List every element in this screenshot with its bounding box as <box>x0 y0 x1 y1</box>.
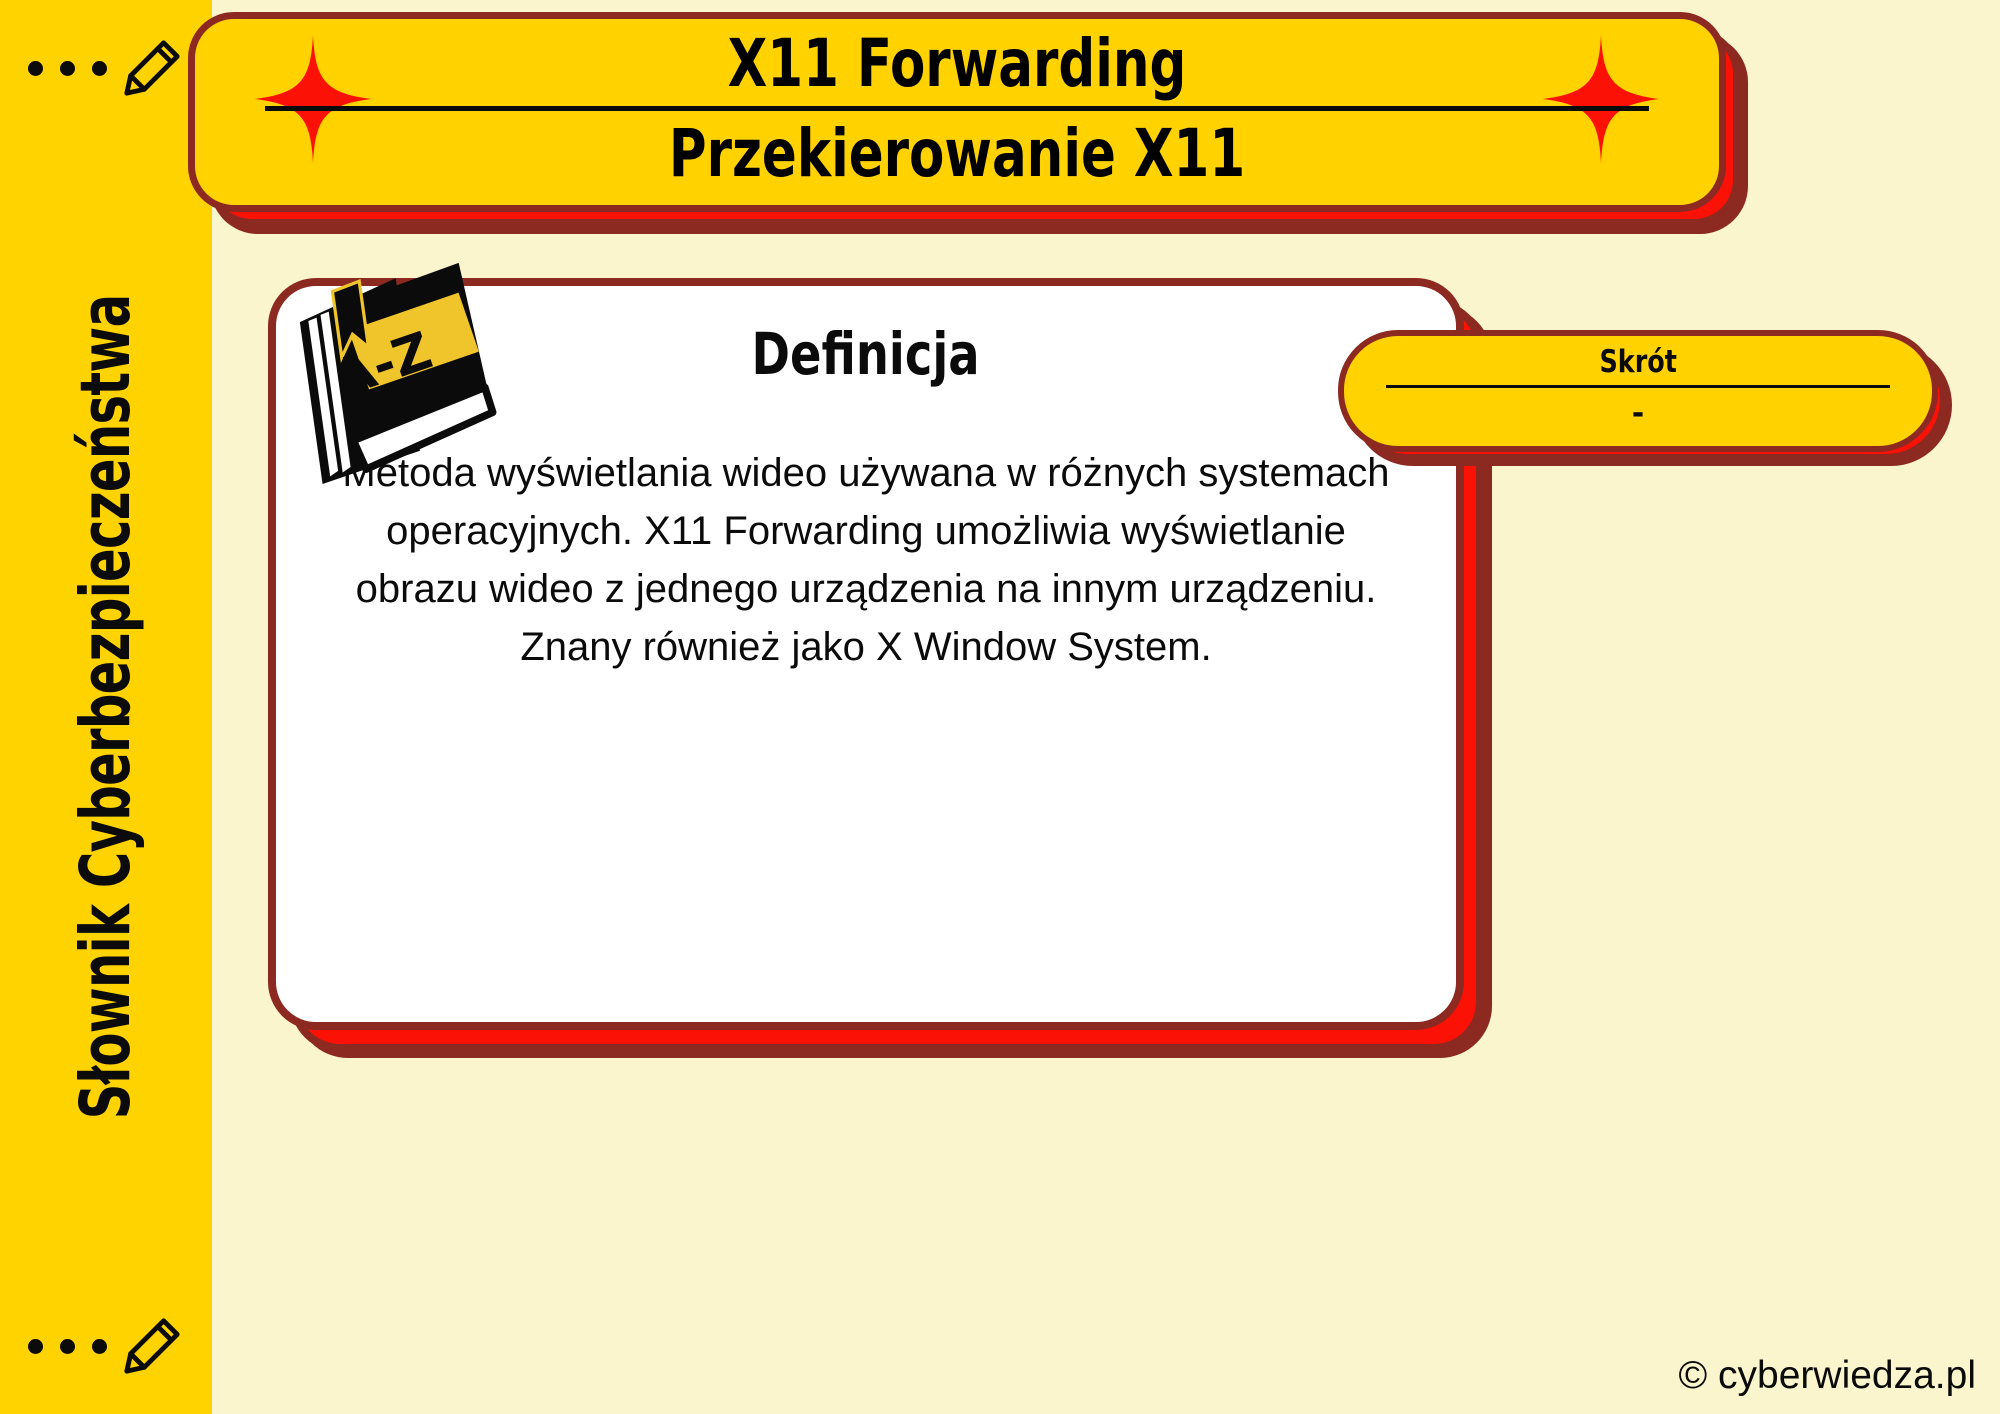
skrot-label-text: Skrót <box>1599 344 1676 380</box>
dot-icon <box>28 61 43 76</box>
header-banner: X11 Forwarding Przekierowanie X11 <box>188 12 1726 212</box>
skrot-label: Skrót <box>1344 344 1932 380</box>
skrot-value: - <box>1344 396 1932 431</box>
sidebar-decor-bottom <box>28 1296 188 1396</box>
header-title-en: X11 Forwarding <box>409 25 1504 103</box>
pencil-icon <box>121 1315 183 1377</box>
skrot-box-wrapper: Skrót - <box>1338 330 1938 460</box>
sidebar: Słownik Cyberbezpieczeństwa <box>0 0 212 1414</box>
skrot-divider <box>1386 385 1890 388</box>
header-title-group: X11 Forwarding Przekierowanie X11 <box>255 25 1659 193</box>
ellipsis-dots <box>28 1339 107 1354</box>
header-divider <box>265 106 1649 111</box>
dot-icon <box>60 61 75 76</box>
definition-body-text: Metoda wyświetlania wideo używana w różn… <box>338 444 1394 676</box>
footer-copyright: © cyberwiedza.pl <box>1678 1354 1976 1398</box>
pencil-icon <box>121 37 183 99</box>
dot-icon <box>92 61 107 76</box>
dictionary-book-icon: A-Z <box>274 248 517 491</box>
header-banner-wrapper: X11 Forwarding Przekierowanie X11 <box>188 12 1726 222</box>
sidebar-decor-top <box>28 18 188 118</box>
dot-icon <box>92 1339 107 1354</box>
dot-icon <box>28 1339 43 1354</box>
ellipsis-dots <box>28 61 107 76</box>
definition-heading-text: Definicja <box>752 320 980 388</box>
sidebar-title: Słownik Cyberbezpieczeństwa <box>66 295 146 1120</box>
skrot-box: Skrót - <box>1338 330 1938 452</box>
header-title-pl: Przekierowanie X11 <box>409 115 1504 193</box>
dot-icon <box>60 1339 75 1354</box>
